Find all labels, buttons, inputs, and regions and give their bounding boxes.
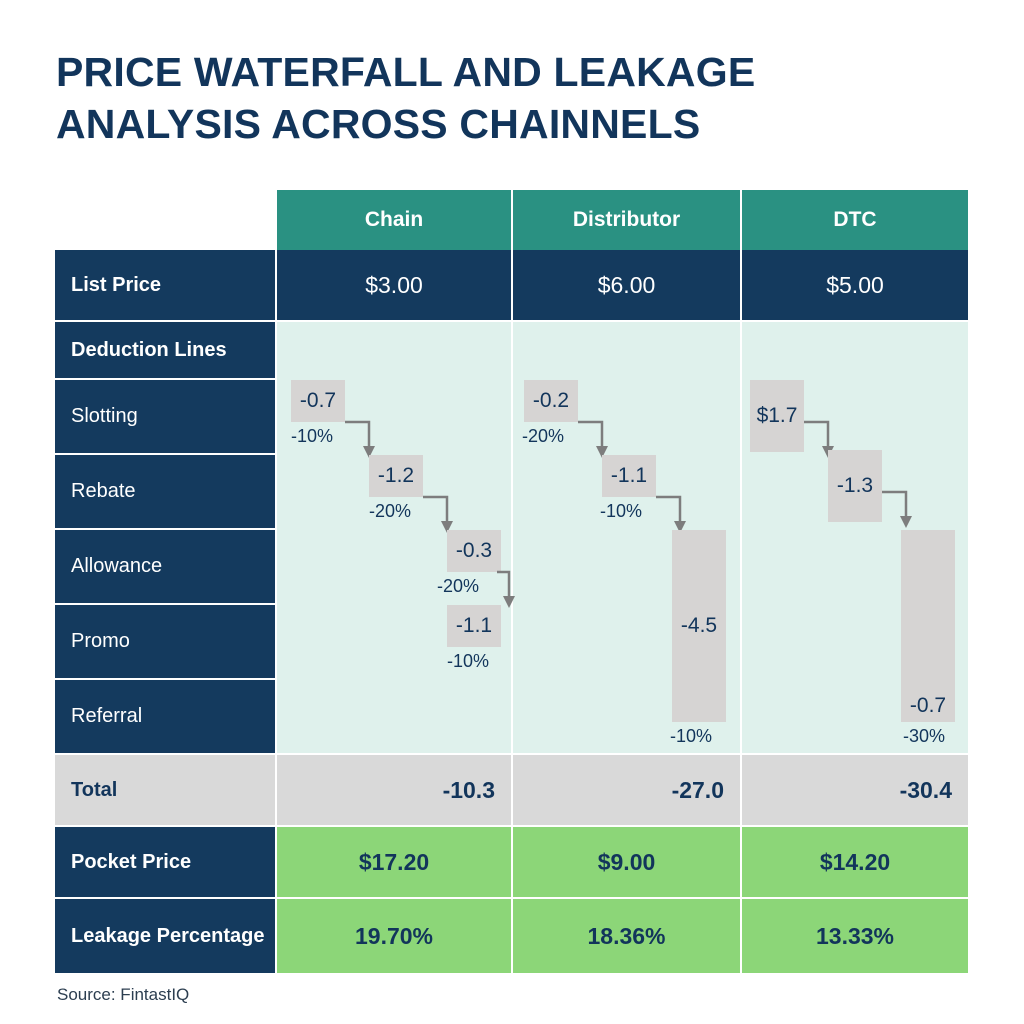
- chart-area-distributor: [513, 322, 740, 753]
- row-label-promo: Promo: [55, 605, 275, 678]
- cell-list-price-dtc: $5.00: [742, 250, 968, 320]
- cell-leakage-dtc: 13.33%: [742, 899, 968, 973]
- column-header-distributor: Distributor: [513, 190, 740, 250]
- column-header-chain: Chain: [277, 190, 511, 250]
- row-label-referral: Referral: [55, 680, 275, 753]
- cell-list-price-distributor: $6.00: [513, 250, 740, 320]
- cell-list-price-chain: $3.00: [277, 250, 511, 320]
- row-label-pocket-price: Pocket Price: [55, 827, 275, 897]
- row-label-rebate: Rebate: [55, 455, 275, 528]
- cell-total-distributor: -27.0: [513, 755, 740, 825]
- row-label-deduction-lines: Deduction Lines: [55, 322, 275, 378]
- infographic-page: PRICE WATERFALL AND LEAKAGE ANALYSIS ACR…: [0, 0, 1024, 1024]
- row-label-slotting: Slotting: [55, 380, 275, 453]
- row-label-allowance: Allowance: [55, 530, 275, 603]
- row-label-total: Total: [55, 755, 275, 825]
- chart-area-chain: [277, 322, 511, 753]
- cell-pocket-price-dtc: $14.20: [742, 827, 968, 897]
- waterfall-table: Chain Distributor DTC List Price $3.00 $…: [55, 190, 968, 973]
- row-label-leakage-percentage: Leakage Percentage: [55, 899, 275, 973]
- row-label-list-price: List Price: [55, 250, 275, 320]
- cell-total-dtc: -30.4: [742, 755, 968, 825]
- cell-leakage-chain: 19.70%: [277, 899, 511, 973]
- cell-pocket-price-chain: $17.20: [277, 827, 511, 897]
- cell-leakage-distributor: 18.36%: [513, 899, 740, 973]
- page-title: PRICE WATERFALL AND LEAKAGE ANALYSIS ACR…: [56, 46, 956, 151]
- cell-total-chain: -10.3: [277, 755, 511, 825]
- chart-area-dtc: [742, 322, 968, 753]
- cell-pocket-price-distributor: $9.00: [513, 827, 740, 897]
- source-note: Source: FintastIQ: [57, 985, 189, 1005]
- column-header-dtc: DTC: [742, 190, 968, 250]
